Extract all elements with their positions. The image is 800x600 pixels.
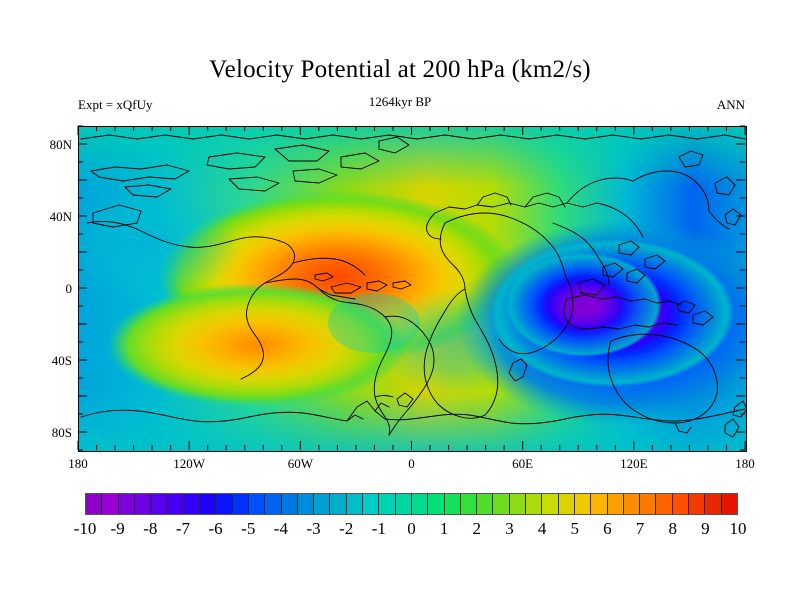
colorbar-cell[interactable] — [347, 494, 363, 514]
colorbar-tick-label: 4 — [538, 519, 547, 539]
x-axis-label: 180 — [735, 456, 755, 472]
map-plot-area — [78, 126, 747, 452]
colorbar-cell[interactable] — [249, 494, 265, 514]
x-axis-label: 0 — [408, 456, 415, 472]
colorbar-cell[interactable] — [298, 494, 314, 514]
colorbar-cell[interactable] — [510, 494, 526, 514]
colorbar-tick-label: 3 — [505, 519, 514, 539]
colorbar-cell[interactable] — [282, 494, 298, 514]
colorbar-cell[interactable] — [151, 494, 167, 514]
colorbar-tick-label: -6 — [209, 519, 223, 539]
colorbar-cell[interactable] — [591, 494, 607, 514]
colorbar-tick-label: 2 — [473, 519, 482, 539]
colorbar-tick-label: -3 — [306, 519, 320, 539]
colorbar-cell[interactable] — [379, 494, 395, 514]
colorbar-cell[interactable] — [184, 494, 200, 514]
colorbar-cell[interactable] — [656, 494, 672, 514]
colorbar-cell[interactable] — [640, 494, 656, 514]
colorbar-cell[interactable] — [314, 494, 330, 514]
velocity-potential-field — [79, 127, 746, 451]
colorbar-cell[interactable] — [86, 494, 102, 514]
colorbar-cell[interactable] — [624, 494, 640, 514]
colorbar-cell[interactable] — [608, 494, 624, 514]
colorbar-tick-label: -9 — [111, 519, 125, 539]
page-title: Velocity Potential at 200 hPa (km2/s) — [0, 56, 800, 84]
colorbar-cell[interactable] — [135, 494, 151, 514]
x-axis-label: 180 — [68, 456, 88, 472]
colorbar-cell[interactable] — [167, 494, 183, 514]
colorbar-cell[interactable] — [200, 494, 216, 514]
colorbar-tick-label: 5 — [571, 519, 580, 539]
colorbar-tick-label: 6 — [603, 519, 612, 539]
colorbar-cell[interactable] — [689, 494, 705, 514]
colorbar-cell[interactable] — [363, 494, 379, 514]
colorbar-cell[interactable] — [493, 494, 509, 514]
colorbar-cell[interactable] — [428, 494, 444, 514]
y-axis: 80N40N040S80S — [0, 126, 72, 452]
colorbar-cell[interactable] — [575, 494, 591, 514]
colorbar-cell[interactable] — [233, 494, 249, 514]
colorbar-cell[interactable] — [396, 494, 412, 514]
colorbar-cell[interactable] — [119, 494, 135, 514]
x-axis: 180120W60W060E120E180 — [0, 456, 800, 476]
colorbar-tick-label: -10 — [74, 519, 97, 539]
colorbar-tick-label: -2 — [339, 519, 353, 539]
x-axis-label: 60E — [512, 456, 533, 472]
colorbar-cell[interactable] — [722, 494, 737, 514]
y-axis-label: 40S — [52, 353, 72, 369]
colorbar-tick-label: 0 — [407, 519, 416, 539]
colorbar-cell[interactable] — [330, 494, 346, 514]
colorbar-cell[interactable] — [559, 494, 575, 514]
colorbar-cell[interactable] — [412, 494, 428, 514]
colorbar[interactable] — [85, 493, 738, 515]
x-axis-label: 60W — [288, 456, 313, 472]
y-axis-label: 80S — [52, 425, 72, 441]
colorbar-tick-label: 9 — [701, 519, 710, 539]
colorbar-tick-label: 7 — [636, 519, 645, 539]
colorbar-tick-label: 10 — [730, 519, 747, 539]
y-axis-label: 0 — [66, 281, 73, 297]
colorbar-cell[interactable] — [673, 494, 689, 514]
colorbar-labels: -10-9-8-7-6-5-4-3-2-1012345678910 — [0, 519, 800, 543]
colorbar-cell[interactable] — [461, 494, 477, 514]
x-axis-label: 120E — [620, 456, 647, 472]
y-axis-label: 40N — [50, 209, 72, 225]
period-label: ANN — [717, 97, 745, 113]
colorbar-cell[interactable] — [526, 494, 542, 514]
colorbar-tick-label: -1 — [372, 519, 386, 539]
colorbar-cell[interactable] — [216, 494, 232, 514]
colorbar-cell[interactable] — [265, 494, 281, 514]
colorbar-cell[interactable] — [705, 494, 721, 514]
colorbar-tick-label: -4 — [274, 519, 288, 539]
colorbar-tick-label: -5 — [241, 519, 255, 539]
y-axis-label: 80N — [50, 137, 72, 153]
colorbar-cell[interactable] — [542, 494, 558, 514]
x-axis-label: 120W — [173, 456, 205, 472]
colorbar-tick-label: -8 — [143, 519, 157, 539]
colorbar-cell[interactable] — [102, 494, 118, 514]
colorbar-tick-label: 1 — [440, 519, 449, 539]
colorbar-cell[interactable] — [445, 494, 461, 514]
colorbar-tick-label: -7 — [176, 519, 190, 539]
experiment-label: Expt = xQfUy — [78, 97, 153, 113]
colorbar-tick-label: 8 — [668, 519, 677, 539]
colorbar-cell[interactable] — [477, 494, 493, 514]
